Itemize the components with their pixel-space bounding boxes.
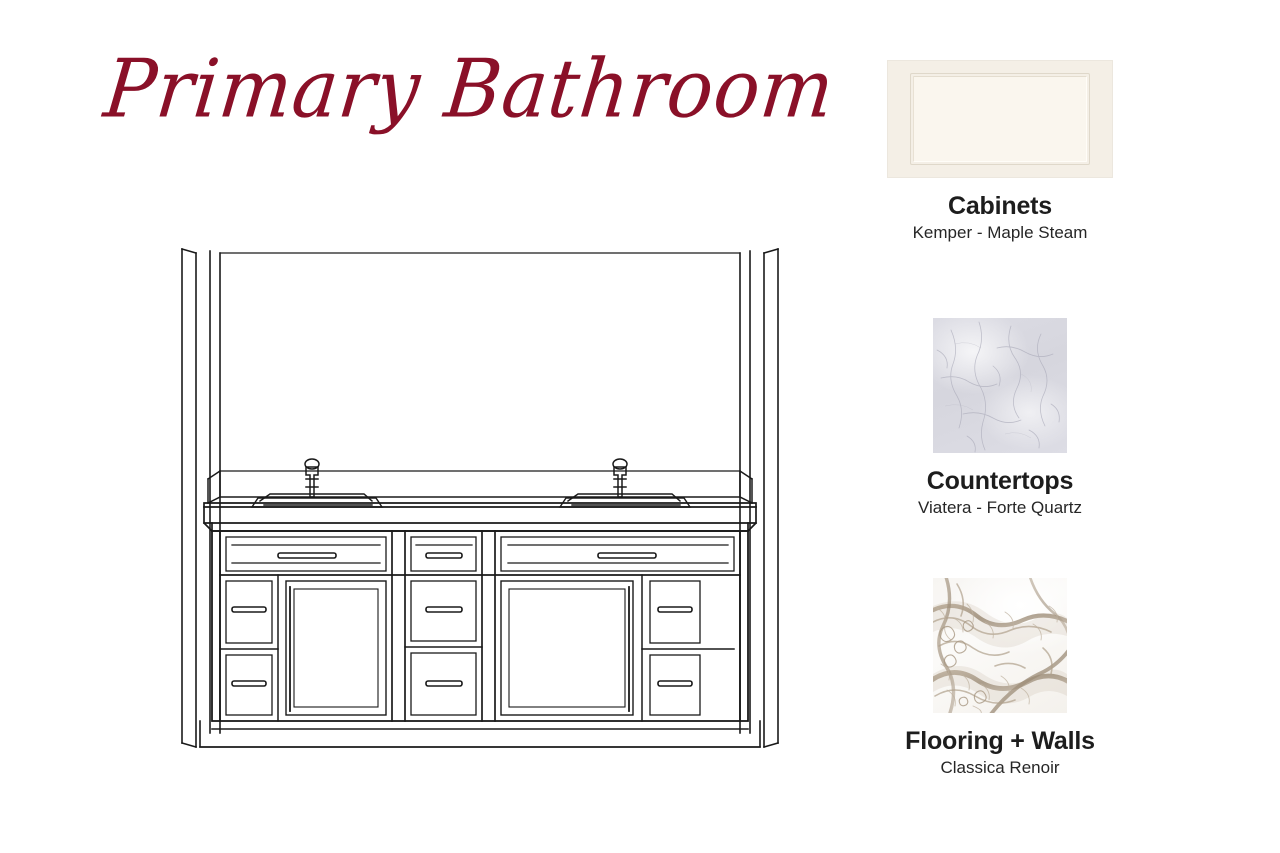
- material-spec: Kemper - Maple Steam: [850, 223, 1150, 243]
- drawer-left-lower: [226, 655, 272, 715]
- marble-veining: [933, 578, 1067, 713]
- wall-alcove-left: [182, 249, 220, 747]
- quartz-swatch: [933, 318, 1067, 453]
- material-item-countertops: Countertops Viatera - Forte Quartz: [850, 318, 1150, 518]
- upper-drawer-row: [220, 531, 740, 721]
- cabinet-door-swatch: [887, 60, 1113, 178]
- mirror-opening: [220, 253, 740, 471]
- drawer-top-left: [226, 537, 386, 571]
- materials-column: Cabinets Kemper - Maple Steam: [850, 60, 1150, 790]
- marble-swatch: [933, 578, 1067, 713]
- faucet-right: [613, 459, 627, 497]
- door-left: [286, 581, 386, 715]
- quartz-swatch-wrap: [850, 318, 1150, 453]
- wall-alcove-right: [740, 249, 778, 747]
- vanity-carcass: [212, 531, 748, 721]
- drawer-top-center: [411, 537, 476, 571]
- drawer-center-lower: [411, 653, 476, 715]
- material-name: Flooring + Walls: [850, 727, 1150, 755]
- drawer-top-right: [501, 537, 734, 571]
- material-spec: Viatera - Forte Quartz: [850, 498, 1150, 518]
- drawer-left-upper: [226, 581, 272, 643]
- door-right: [501, 581, 633, 715]
- quartz-veining: [933, 318, 1067, 453]
- material-name: Cabinets: [850, 192, 1150, 220]
- vanity-elevation-svg: [160, 235, 800, 765]
- faucet-left: [305, 459, 319, 497]
- cabinet-door-panel: [913, 76, 1087, 162]
- sink-right: [560, 494, 690, 507]
- page-title: Primary Bathroom: [100, 41, 839, 135]
- title-block: Primary Bathroom: [150, 18, 790, 158]
- drawer-bank-left: [220, 575, 278, 721]
- drawer-right-lower: [650, 655, 700, 715]
- drawer-right-upper: [650, 581, 700, 643]
- cabinet-swatch-wrap: [850, 60, 1150, 178]
- design-board: Primary Bathroom: [0, 0, 1280, 853]
- material-name: Countertops: [850, 467, 1150, 495]
- material-spec: Classica Renoir: [850, 758, 1150, 778]
- marble-swatch-wrap: [850, 578, 1150, 713]
- vanity-elevation-drawing: [160, 235, 800, 765]
- drawer-bank-center: [405, 581, 482, 715]
- drawer-bank-right: [642, 575, 734, 721]
- material-item-cabinets: Cabinets Kemper - Maple Steam: [850, 60, 1150, 243]
- drawer-center-mid: [411, 581, 476, 641]
- sink-left: [252, 494, 382, 507]
- material-item-flooring-walls: Flooring + Walls Classica Renoir: [850, 578, 1150, 778]
- toe-kick: [200, 721, 760, 747]
